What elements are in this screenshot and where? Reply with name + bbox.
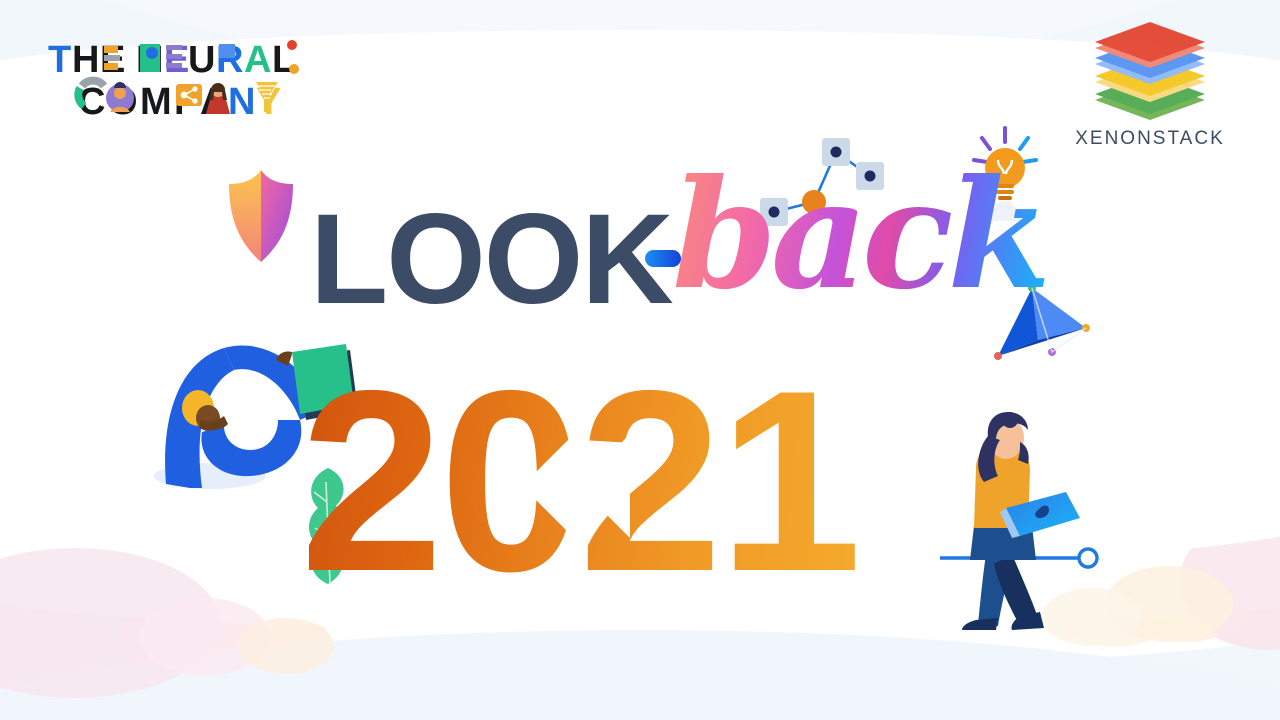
tnc-inlay-orange-2 [104, 63, 118, 70]
laptop-line-endpoint [1079, 549, 1097, 567]
cloud-overlay-left-3 [238, 618, 334, 674]
tnc-letter-M: M [140, 81, 172, 120]
shield-icon [225, 168, 297, 269]
rewind-triangle-1 [522, 434, 574, 538]
tnc-inlay-dot-N [146, 47, 158, 59]
poster-canvas: T H E N E U R A L C [0, 0, 1280, 720]
person-with-laptop-illustration [940, 412, 1110, 637]
tnc-inlay-blue-R [219, 44, 235, 58]
tnc-inlay-orange-1 [104, 46, 118, 53]
rewind-triangle-2 [578, 434, 630, 538]
tnc-molecule-bg [176, 84, 202, 106]
xenonstack-stack-icon [1091, 22, 1209, 122]
tnc-inlay-red-L [287, 40, 297, 50]
tnc-logo-svg: T H E N E U R A L C [48, 36, 338, 120]
tnc-letter-A1: A [244, 39, 271, 81]
tnc-letter-H: H [72, 39, 99, 81]
tnc-inlay-purple-3 [166, 63, 182, 68]
tnc-inlay-purple-1 [166, 45, 182, 50]
tnc-letter-N2: N [228, 81, 255, 120]
shield-left-half [229, 170, 261, 262]
tnc-letter-U: U [188, 39, 215, 81]
laptop-hair-bun [1002, 412, 1018, 428]
tetra-vertex-red [994, 352, 1002, 360]
brand-the-neural-company[interactable]: T H E N E U R A L C [48, 36, 338, 116]
headline-look: LOOK [310, 196, 672, 324]
xenonstack-wordmark: XENONSTACK [1060, 128, 1240, 150]
tnc-inlay-gray-1 [104, 55, 120, 61]
tnc-avatar-head [114, 87, 126, 99]
brand-xenonstack[interactable]: XENONSTACK [1060, 22, 1240, 150]
shield-right-half [261, 170, 293, 262]
tnc-letter-T: T [48, 39, 71, 81]
rewind-icon [518, 430, 634, 547]
tnc-inlay-purple-2 [166, 54, 182, 59]
tnc-inlay-orange-L [289, 64, 299, 74]
headline-back: back [672, 160, 1045, 310]
laptop-shoe-back [962, 618, 998, 630]
